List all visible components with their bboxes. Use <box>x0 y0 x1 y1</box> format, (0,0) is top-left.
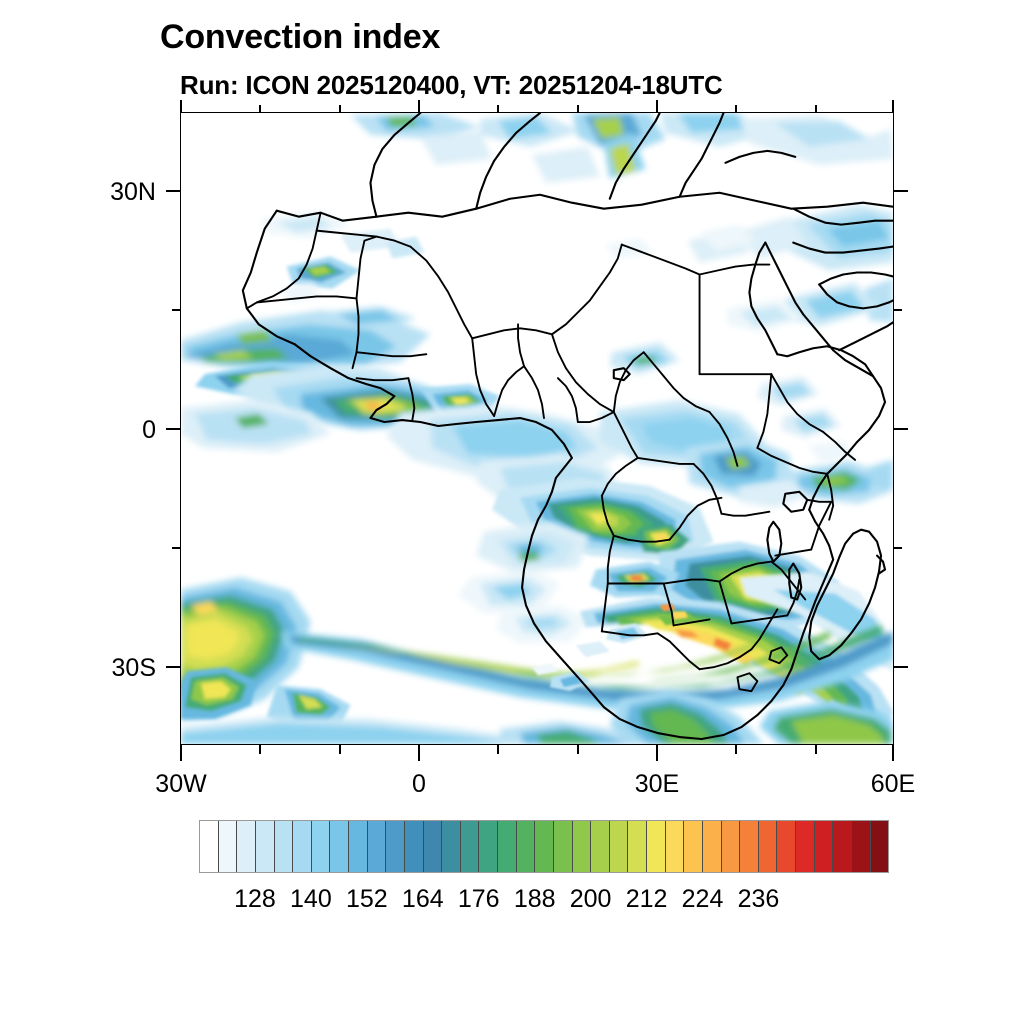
x-axis-label-30w: 30W <box>121 770 241 799</box>
colorbar-cell-30 <box>759 821 778 872</box>
x-axis-label-0: 0 <box>359 770 479 799</box>
y-tick-major-30s <box>166 666 180 668</box>
x-tick-minor-40e <box>735 745 737 754</box>
colorbar-cell-31 <box>777 821 796 872</box>
colorbar-cell-1 <box>219 821 238 872</box>
colorbar-cell-13 <box>442 821 461 872</box>
page-title: Convection index <box>160 18 440 57</box>
map-plot-area <box>180 112 894 745</box>
x-tick-top-30w <box>180 100 182 112</box>
colorbar-cell-21 <box>591 821 610 872</box>
colorbar-cell-0 <box>200 821 219 872</box>
y-axis-label-30n: 30N <box>56 178 156 207</box>
y-tick-right-0 <box>894 428 908 430</box>
x-tick-minor-10e <box>497 745 499 754</box>
colorbar-cell-17 <box>517 821 536 872</box>
y-axis-label-30s: 30S <box>56 654 156 683</box>
x-tick-minor-20e <box>577 745 579 754</box>
colorbar-cell-7 <box>330 821 349 872</box>
colorbar-cell-3 <box>256 821 275 872</box>
x-tick-major-60e <box>892 745 894 761</box>
x-tick-major-0 <box>418 745 420 761</box>
y-tick-right-30s <box>894 666 908 668</box>
colorbar-cell-2 <box>237 821 256 872</box>
colorbar-cell-18 <box>535 821 554 872</box>
x-tick-top-30e <box>656 100 658 112</box>
colorbar-cell-34 <box>833 821 852 872</box>
colorbar-cell-4 <box>275 821 294 872</box>
colorbar-cell-15 <box>479 821 498 872</box>
x-tick-top-10e <box>497 105 499 112</box>
y-tick-minor-15n <box>172 309 180 311</box>
colorbar-cell-33 <box>815 821 834 872</box>
x-tick-top-50e <box>815 105 817 112</box>
colorbar-cell-6 <box>312 821 331 872</box>
x-tick-minor-20w <box>259 745 261 754</box>
x-tick-top-10w <box>339 105 341 112</box>
colorbar-cell-8 <box>349 821 368 872</box>
colorbar-cell-9 <box>368 821 387 872</box>
x-tick-major-30w <box>180 745 182 761</box>
colorbar-cell-27 <box>703 821 722 872</box>
page-subtitle: Run: ICON 2025120400, VT: 20251204-18UTC <box>180 70 723 101</box>
x-axis-label-60e: 60E <box>833 770 953 799</box>
colorbar-cell-23 <box>628 821 647 872</box>
y-tick-major-0 <box>166 428 180 430</box>
colorbar-label-236: 236 <box>698 885 818 914</box>
y-tick-minor-15s <box>172 547 180 549</box>
map-canvas <box>181 113 893 744</box>
x-tick-top-20e <box>577 105 579 112</box>
x-tick-minor-50e <box>815 745 817 754</box>
colorbar-cell-14 <box>461 821 480 872</box>
colorbar-cell-29 <box>740 821 759 872</box>
colorbar[interactable] <box>199 820 889 873</box>
colorbar-cell-25 <box>666 821 685 872</box>
colorbar-cell-10 <box>386 821 405 872</box>
y-tick-right-15n <box>894 309 902 311</box>
colorbar-cell-26 <box>684 821 703 872</box>
y-tick-right-15s <box>894 547 902 549</box>
colorbar-cell-24 <box>647 821 666 872</box>
x-tick-major-30e <box>656 745 658 761</box>
x-axis-label-30e: 30E <box>597 770 717 799</box>
x-tick-top-0 <box>418 100 420 112</box>
y-tick-right-30n <box>894 190 908 192</box>
colorbar-cell-11 <box>405 821 424 872</box>
colorbar-cell-19 <box>554 821 573 872</box>
colorbar-cell-20 <box>573 821 592 872</box>
colorbar-cell-12 <box>424 821 443 872</box>
colorbar-cell-36 <box>871 821 889 872</box>
colorbar-cell-28 <box>722 821 741 872</box>
y-tick-major-30n <box>166 190 180 192</box>
y-axis-label-0: 0 <box>56 416 156 445</box>
convection-index-figure: Convection index Run: ICON 2025120400, V… <box>0 0 1024 1024</box>
colorbar-cell-32 <box>796 821 815 872</box>
x-tick-top-60e <box>892 100 894 112</box>
colorbar-cell-16 <box>498 821 517 872</box>
x-tick-top-20w <box>259 105 261 112</box>
x-tick-minor-10w <box>339 745 341 754</box>
colorbar-cell-35 <box>852 821 871 872</box>
colorbar-cell-5 <box>293 821 312 872</box>
colorbar-cell-22 <box>610 821 629 872</box>
x-tick-top-40e <box>735 105 737 112</box>
